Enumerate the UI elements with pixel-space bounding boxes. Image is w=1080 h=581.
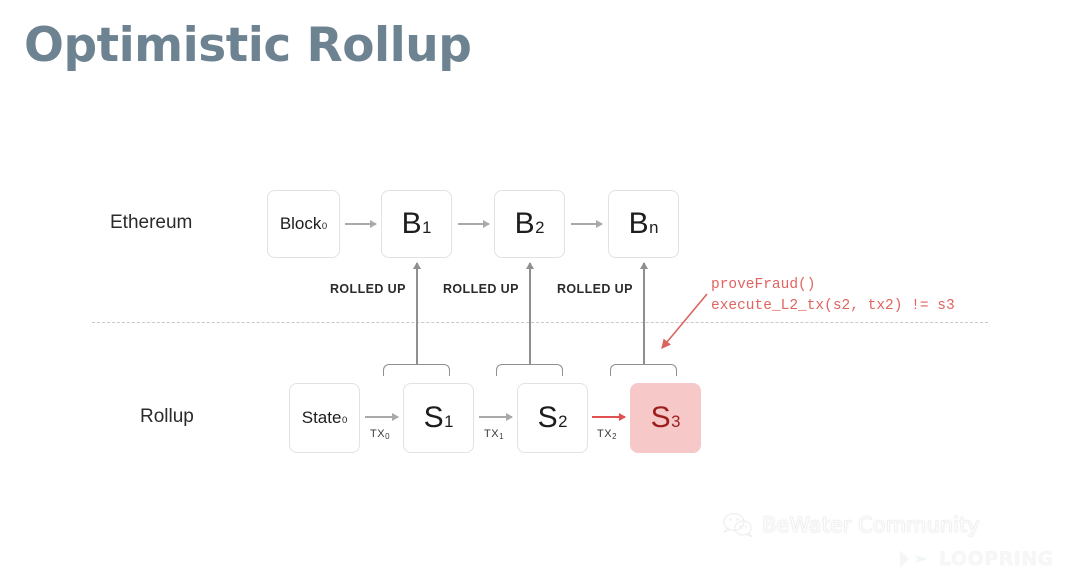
wechat-icon xyxy=(723,512,753,538)
node-block-1-label: B xyxy=(402,207,422,241)
fraud-proof-arrow-icon xyxy=(645,290,715,362)
node-block-2-sub: 2 xyxy=(535,218,545,238)
node-state-3-fraudulent[interactable]: S3 xyxy=(630,383,701,453)
watermark-loopring: LOOPRING xyxy=(898,548,1054,570)
arrow-tx-1 xyxy=(479,416,512,418)
node-block-n[interactable]: Bn xyxy=(608,190,679,258)
rolled-up-label-1: ROLLED UP xyxy=(330,282,406,296)
tx-label-2: TX2 xyxy=(597,428,617,440)
row-label-ethereum: Ethereum xyxy=(110,212,192,234)
node-block-n-sub: n xyxy=(649,218,659,238)
tx-label-0: TX0 xyxy=(370,428,390,440)
arrow-block0-to-block1 xyxy=(345,223,376,225)
rolled-up-bracket-3 xyxy=(610,364,677,376)
tx-label-1-text: TX xyxy=(484,428,499,440)
loopring-logo-icon xyxy=(898,548,932,570)
node-state-3-sub: 3 xyxy=(671,412,681,432)
tx-label-0-text: TX xyxy=(370,428,385,440)
rolled-up-label-3: ROLLED UP xyxy=(557,282,633,296)
rolled-up-arrow-1 xyxy=(416,263,418,364)
node-state-1[interactable]: S1 xyxy=(403,383,474,453)
tx-label-1-sub: 1 xyxy=(499,432,504,441)
fraud-proof-annotation: proveFraud() execute_L2_tx(s2, tx2) != s… xyxy=(711,275,955,317)
tx-label-2-text: TX xyxy=(597,428,612,440)
page-title: Optimistic Rollup xyxy=(24,18,471,73)
watermark-bewater: BeWater Community xyxy=(723,512,980,538)
node-state-2[interactable]: S2 xyxy=(517,383,588,453)
watermark-bewater-text: BeWater Community xyxy=(762,513,980,537)
arrow-tx-2-fraudulent xyxy=(592,416,625,418)
layer-divider xyxy=(92,322,988,323)
node-state-2-sub: 2 xyxy=(558,412,568,432)
node-state-2-label: S xyxy=(538,401,558,435)
node-state-1-label: S xyxy=(424,401,444,435)
node-block-0-label: Block xyxy=(280,214,322,234)
node-block-0-sub: 0 xyxy=(321,221,327,232)
arrow-block2-to-blockn xyxy=(571,223,602,225)
node-state-0-label: State xyxy=(302,408,342,428)
node-state-1-sub: 1 xyxy=(444,412,454,432)
node-block-n-label: B xyxy=(629,207,649,241)
node-block-0[interactable]: Block0 xyxy=(267,190,340,258)
node-block-1-sub: 1 xyxy=(422,218,432,238)
arrow-tx-0 xyxy=(365,416,398,418)
arrow-block1-to-block2 xyxy=(458,223,489,225)
tx-label-1: TX1 xyxy=(484,428,504,440)
rolled-up-bracket-1 xyxy=(383,364,450,376)
node-block-1[interactable]: B1 xyxy=(381,190,452,258)
tx-label-2-sub: 2 xyxy=(612,432,617,441)
rolled-up-arrow-2 xyxy=(529,263,531,364)
node-state-0-sub: 0 xyxy=(341,415,347,426)
rolled-up-bracket-2 xyxy=(496,364,563,376)
rolled-up-label-2: ROLLED UP xyxy=(443,282,519,296)
node-state-0[interactable]: State0 xyxy=(289,383,360,453)
tx-label-0-sub: 0 xyxy=(385,432,390,441)
fraud-proof-line-2: execute_L2_tx(s2, tx2) != s3 xyxy=(711,296,955,317)
node-block-2[interactable]: B2 xyxy=(494,190,565,258)
row-label-rollup: Rollup xyxy=(140,406,194,428)
slide-canvas: Optimistic Rollup Ethereum Rollup Block0… xyxy=(0,0,1080,581)
watermark-loopring-text: LOOPRING xyxy=(939,548,1054,570)
node-state-3-label: S xyxy=(651,401,671,435)
fraud-proof-line-1: proveFraud() xyxy=(711,275,955,296)
node-block-2-label: B xyxy=(515,207,535,241)
